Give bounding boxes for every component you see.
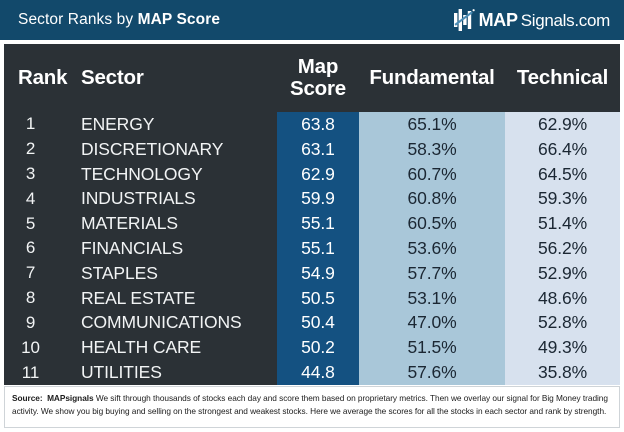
source-note: Source: MAPsignals We sift through thous… bbox=[4, 386, 620, 428]
column-header-map-score[interactable]: Map Score bbox=[277, 44, 359, 112]
title-bar: Sector Ranks by MAP Score MAPSignals.com bbox=[0, 0, 624, 40]
cell-fundamental: 60.8% bbox=[359, 186, 505, 211]
cell-fundamental: 65.1% bbox=[359, 112, 505, 137]
cell-map-score: 50.5 bbox=[277, 286, 359, 311]
cell-rank: 4 bbox=[4, 186, 75, 211]
cell-fundamental: 51.5% bbox=[359, 335, 505, 360]
cell-sector: COMMUNICATIONS bbox=[75, 311, 277, 336]
cell-map-score: 55.1 bbox=[277, 211, 359, 236]
source-name: MAPsignals bbox=[47, 393, 94, 403]
cell-map-score: 62.9 bbox=[277, 162, 359, 187]
cell-rank: 3 bbox=[4, 162, 75, 187]
cell-fundamental: 60.7% bbox=[359, 162, 505, 187]
map-signals-bars-icon bbox=[454, 8, 476, 32]
cell-sector: ENERGY bbox=[75, 112, 277, 137]
table-row: 3 TECHNOLOGY 62.9 60.7% 64.5% bbox=[4, 162, 620, 187]
cell-technical: 52.8% bbox=[505, 311, 620, 336]
cell-rank: 7 bbox=[4, 261, 75, 286]
cell-rank: 6 bbox=[4, 236, 75, 261]
table-row: 10 HEALTH CARE 50.2 51.5% 49.3% bbox=[4, 335, 620, 360]
cell-rank: 1 bbox=[4, 112, 75, 137]
cell-map-score: 50.2 bbox=[277, 335, 359, 360]
table-row: 11 UTILITIES 44.8 57.6% 35.8% bbox=[4, 360, 620, 385]
table-row: 7 STAPLES 54.9 57.7% 52.9% bbox=[4, 261, 620, 286]
cell-map-score: 63.8 bbox=[277, 112, 359, 137]
page-title-strong: MAP Score bbox=[138, 11, 220, 28]
cell-rank: 5 bbox=[4, 211, 75, 236]
cell-sector: DISCRETIONARY bbox=[75, 137, 277, 162]
cell-map-score: 54.9 bbox=[277, 261, 359, 286]
sector-ranks-table: Rank Sector Map Score Fundamental Techni… bbox=[4, 44, 620, 385]
table-row: 6 FINANCIALS 55.1 53.6% 56.2% bbox=[4, 236, 620, 261]
source-label: Source: bbox=[12, 393, 43, 403]
source-body: We sift through thousands of stocks each… bbox=[12, 393, 608, 416]
cell-technical: 64.5% bbox=[505, 162, 620, 187]
cell-sector: STAPLES bbox=[75, 261, 277, 286]
sector-ranks-table-wrapper: Rank Sector Map Score Fundamental Techni… bbox=[4, 44, 620, 385]
cell-fundamental: 47.0% bbox=[359, 311, 505, 336]
page-title-prefix: Sector Ranks by bbox=[18, 11, 138, 28]
cell-map-score: 63.1 bbox=[277, 137, 359, 162]
cell-fundamental: 53.6% bbox=[359, 236, 505, 261]
table-row: 4 INDUSTRIALS 59.9 60.8% 59.3% bbox=[4, 186, 620, 211]
cell-rank: 2 bbox=[4, 137, 75, 162]
cell-rank: 11 bbox=[4, 360, 75, 385]
table-row: 9 COMMUNICATIONS 50.4 47.0% 52.8% bbox=[4, 311, 620, 336]
cell-technical: 66.4% bbox=[505, 137, 620, 162]
cell-sector: FINANCIALS bbox=[75, 236, 277, 261]
column-header-rank[interactable]: Rank bbox=[4, 44, 75, 112]
logo-suffix: Signals.com bbox=[521, 12, 610, 29]
cell-technical: 48.6% bbox=[505, 286, 620, 311]
table-row: 5 MATERIALS 55.1 60.5% 51.4% bbox=[4, 211, 620, 236]
cell-technical: 56.2% bbox=[505, 236, 620, 261]
source-note-text: Source: MAPsignals We sift through thous… bbox=[12, 392, 612, 418]
table-row: 1 ENERGY 63.8 65.1% 62.9% bbox=[4, 112, 620, 137]
cell-technical: 52.9% bbox=[505, 261, 620, 286]
table-body: 1 ENERGY 63.8 65.1% 62.9% 2 DISCRETIONAR… bbox=[4, 112, 620, 385]
cell-map-score: 44.8 bbox=[277, 360, 359, 385]
cell-technical: 51.4% bbox=[505, 211, 620, 236]
cell-fundamental: 58.3% bbox=[359, 137, 505, 162]
cell-technical: 62.9% bbox=[505, 112, 620, 137]
cell-rank: 10 bbox=[4, 335, 75, 360]
cell-fundamental: 60.5% bbox=[359, 211, 505, 236]
cell-sector: UTILITIES bbox=[75, 360, 277, 385]
cell-map-score: 55.1 bbox=[277, 236, 359, 261]
cell-technical: 35.8% bbox=[505, 360, 620, 385]
cell-sector: HEALTH CARE bbox=[75, 335, 277, 360]
table-header-row: Rank Sector Map Score Fundamental Techni… bbox=[4, 44, 620, 112]
cell-fundamental: 57.6% bbox=[359, 360, 505, 385]
column-header-map-score-line1: Map bbox=[298, 55, 338, 78]
sector-ranks-infographic: Sector Ranks by MAP Score MAPSignals.com… bbox=[0, 0, 624, 432]
cell-technical: 59.3% bbox=[505, 186, 620, 211]
table-header: Rank Sector Map Score Fundamental Techni… bbox=[4, 44, 620, 112]
cell-sector: INDUSTRIALS bbox=[75, 186, 277, 211]
table-row: 8 REAL ESTATE 50.5 53.1% 48.6% bbox=[4, 286, 620, 311]
cell-map-score: 50.4 bbox=[277, 311, 359, 336]
mapsignals-logo[interactable]: MAPSignals.com bbox=[454, 8, 610, 32]
column-header-fundamental[interactable]: Fundamental bbox=[359, 44, 505, 112]
cell-rank: 8 bbox=[4, 286, 75, 311]
cell-rank: 9 bbox=[4, 311, 75, 336]
column-header-sector[interactable]: Sector bbox=[75, 44, 277, 112]
cell-sector: REAL ESTATE bbox=[75, 286, 277, 311]
logo-word: MAP bbox=[479, 11, 518, 29]
cell-sector: TECHNOLOGY bbox=[75, 162, 277, 187]
table-row: 2 DISCRETIONARY 63.1 58.3% 66.4% bbox=[4, 137, 620, 162]
cell-map-score: 59.9 bbox=[277, 186, 359, 211]
cell-technical: 49.3% bbox=[505, 335, 620, 360]
cell-fundamental: 53.1% bbox=[359, 286, 505, 311]
column-header-map-score-line2: Score bbox=[290, 77, 346, 100]
page-title: Sector Ranks by MAP Score bbox=[18, 11, 220, 29]
cell-sector: MATERIALS bbox=[75, 211, 277, 236]
cell-fundamental: 57.7% bbox=[359, 261, 505, 286]
column-header-technical[interactable]: Technical bbox=[505, 44, 620, 112]
